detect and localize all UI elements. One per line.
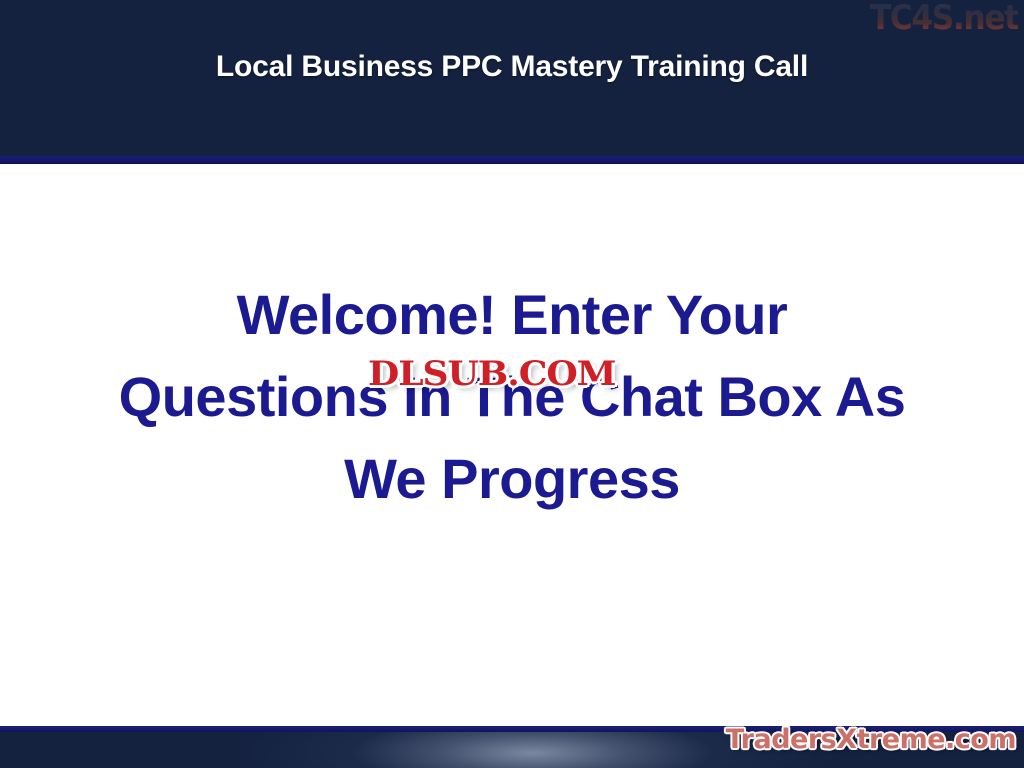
presentation-slide: TC4S.net Local Business PPC Mastery Trai… [0, 0, 1024, 768]
slide-header-title: Local Business PPC Mastery Training Call [0, 50, 1024, 84]
slide-main-heading: Welcome! Enter Your Questions In The Cha… [60, 274, 964, 520]
heading-line-1: Welcome! Enter Your [237, 283, 788, 346]
slide-header-bar: TC4S.net Local Business PPC Mastery Trai… [0, 0, 1024, 156]
heading-line-3: We Progress [344, 447, 680, 510]
tradersxtreme-watermark: TradersXtreme.com [726, 724, 1016, 755]
header-accent-line [0, 156, 1024, 164]
slide-content-area: Welcome! Enter Your Questions In The Cha… [0, 164, 1024, 726]
dlsub-watermark: DLSUB.COM [368, 354, 615, 394]
tc4s-watermark: TC4S.net [870, 0, 1018, 38]
